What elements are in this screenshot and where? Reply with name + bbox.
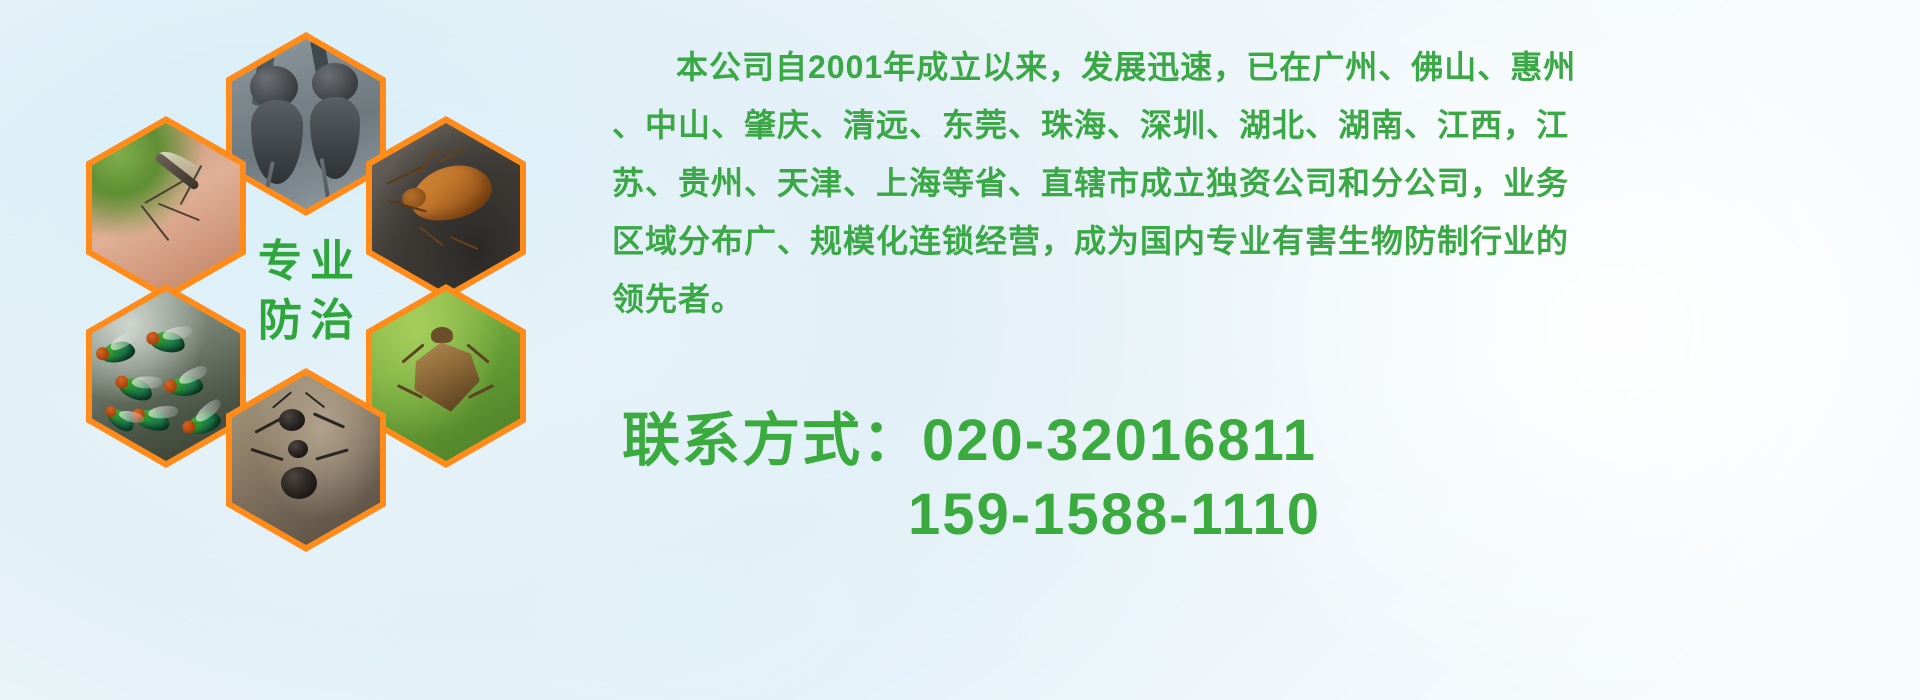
slogan-line-1: 专业: [250, 233, 362, 292]
contact-phone-primary[interactable]: 联系方式：020-32016811: [622, 404, 1722, 478]
hex-photo-stinkbug: [366, 284, 526, 468]
cockroach-leg-shape: [450, 236, 478, 250]
ant-photo: [232, 375, 380, 545]
company-description: 本公司自2001年成立以来，发展迅速，已在广州、佛山、惠州 、中山、肇庆、清远、…: [612, 38, 1902, 328]
stinkbug-photo: [372, 291, 520, 461]
stinkbug-head-shape: [431, 327, 453, 343]
ant-leg-shape: [315, 449, 349, 461]
rat-body-shape: [251, 100, 303, 184]
ant-antenna-shape: [273, 391, 293, 408]
promotional-banner: 专业 防治 本公司自2001年成立以来，发展迅速，已在广州、佛山、惠州 、中山、…: [0, 0, 1920, 700]
ant-leg-shape: [250, 448, 283, 461]
mosquito-leg-shape: [145, 180, 184, 204]
contact-phone-secondary[interactable]: 159-1588-1110: [622, 478, 1722, 552]
hex-photo-flies: [86, 284, 246, 468]
mosquito-leg-shape: [141, 205, 170, 241]
cockroach-antenna-shape: [387, 165, 424, 184]
fly-shape: [184, 408, 223, 438]
description-line-5: 领先者。: [612, 270, 1902, 328]
hex-photo-cockroach: [366, 116, 526, 300]
description-line-2: 、中山、肇庆、清远、东莞、珠海、深圳、湖北、湖南、江西，江: [612, 96, 1902, 154]
fly-shape: [168, 374, 204, 397]
description-line-4: 区域分布广、规模化连锁经营，成为国内专业有害生物防制行业的: [612, 212, 1902, 270]
rat-body-shape: [310, 97, 360, 179]
hex-photo-mosquito: [86, 116, 246, 300]
description-line-3: 苏、贵州、天津、上海等省、直辖市成立独资公司和分公司，业务: [612, 154, 1902, 212]
contact-block: 联系方式：020-32016811 159-1588-1110: [622, 404, 1722, 552]
flies-photo: [92, 291, 240, 461]
fly-shape: [116, 374, 155, 404]
slogan-line-2: 防治: [250, 292, 362, 351]
cockroach-leg-shape: [439, 146, 466, 163]
ant-head-shape: [279, 409, 305, 431]
rats-photo: [232, 39, 380, 209]
description-line-1: 本公司自2001年成立以来，发展迅速，已在广州、佛山、惠州: [612, 38, 1902, 96]
cockroach-photo: [372, 123, 520, 293]
mosquito-photo: [92, 123, 240, 293]
ant-leg-shape: [313, 412, 345, 429]
ant-abdomen-shape: [281, 467, 317, 499]
ant-thorax-shape: [288, 440, 308, 458]
mosquito-leg-shape: [158, 203, 200, 221]
hex-photo-rats: [226, 32, 386, 216]
fly-shape: [150, 330, 186, 355]
hexagon-photo-collage: 专业 防治: [86, 8, 586, 568]
cockroach-leg-shape: [419, 226, 444, 246]
fly-shape: [99, 339, 136, 366]
hex-slogan-center: 专业 防治: [226, 200, 386, 384]
ant-antenna-shape: [305, 392, 325, 408]
hex-photo-ant: [226, 368, 386, 552]
